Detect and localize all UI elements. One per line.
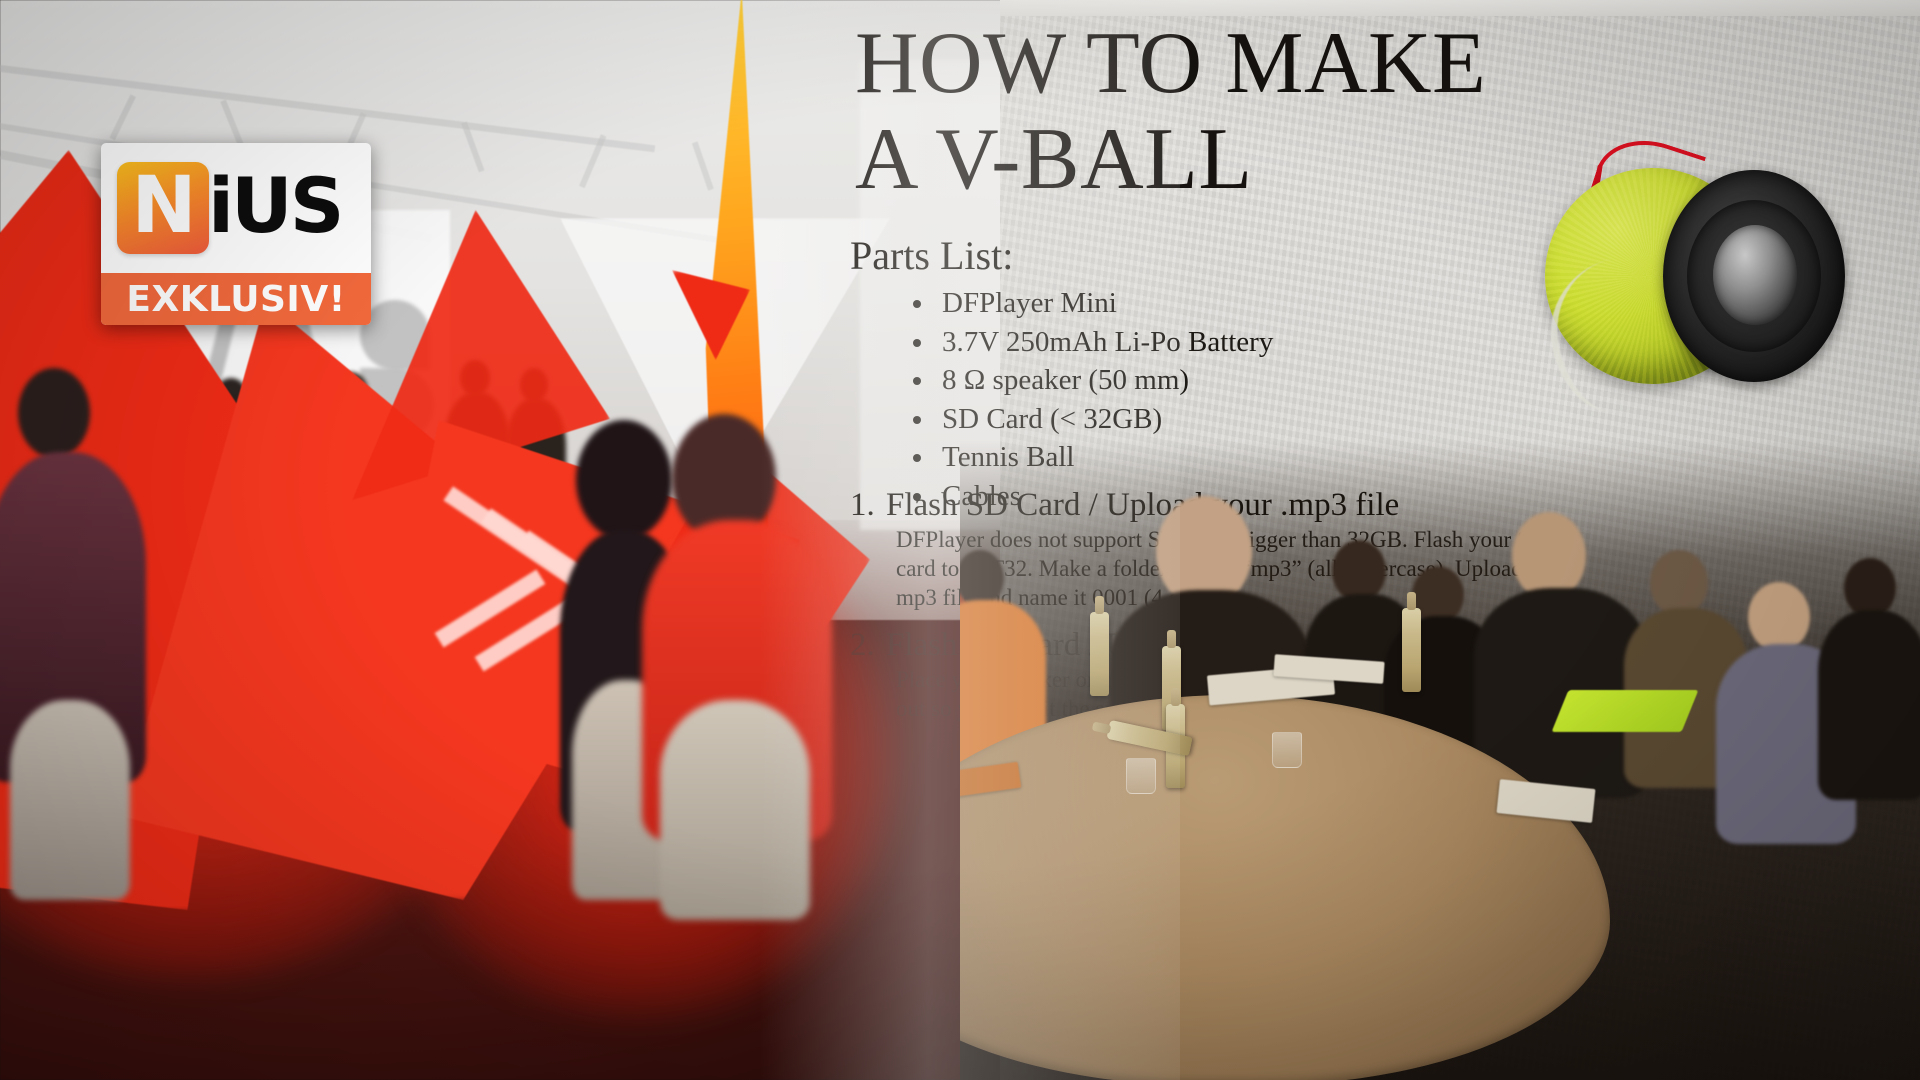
drinking-glass <box>1272 732 1302 768</box>
protester-head <box>18 368 90 458</box>
audience-head <box>1844 558 1896 618</box>
nius-exklusiv-watermark: N iUS EXKLUSIV! <box>101 143 371 325</box>
tennis-ball-speaker-photo <box>1545 140 1845 390</box>
audience-head <box>1332 540 1386 602</box>
beer-bottle <box>1090 612 1109 696</box>
protester-head <box>576 420 672 540</box>
audience-figure <box>1818 610 1920 800</box>
poster-title-line-2: A V-BALL <box>855 118 1253 202</box>
nius-logo-row: N iUS <box>101 143 371 273</box>
drinking-glass <box>1126 758 1156 794</box>
protester-figure <box>660 700 810 920</box>
step-number: 1. <box>850 487 886 524</box>
parts-list-item: 3.7V 250mAh Li-Po Battery <box>936 323 1273 362</box>
audience-head <box>1650 550 1708 616</box>
parts-list-item: 8 Ω speaker (50 mm) <box>936 361 1273 400</box>
speaker-cone <box>1713 225 1797 325</box>
parts-list-item: DFPlayer Mini <box>936 284 1273 323</box>
speaker-driver <box>1663 170 1845 382</box>
parts-list-heading: Parts List: <box>850 232 1013 279</box>
poster-title-line-1: HOW TO MAKE <box>855 22 1486 106</box>
nius-exklusiv-bar: EXKLUSIV! <box>101 273 371 325</box>
audience-head <box>1748 582 1810 652</box>
nius-logo-letters-ius: iUS <box>208 168 342 244</box>
protester-figure <box>10 700 130 900</box>
green-folder <box>1552 690 1699 732</box>
panelist-head <box>1512 512 1586 600</box>
beer-bottle <box>1402 608 1421 692</box>
composite-news-graphic: HOW TO MAKE A V-BALL Parts List: DFPlaye… <box>0 0 1920 1080</box>
nius-logo-letter-n: N <box>131 167 194 245</box>
nius-logo-tile: N <box>117 162 209 254</box>
parts-list-item: SD Card (< 32GB) <box>936 400 1273 439</box>
step-number: 2. <box>850 627 886 664</box>
roundtable-meeting-photo <box>960 440 1920 1080</box>
nius-exklusiv-label: EXKLUSIV! <box>126 279 345 320</box>
